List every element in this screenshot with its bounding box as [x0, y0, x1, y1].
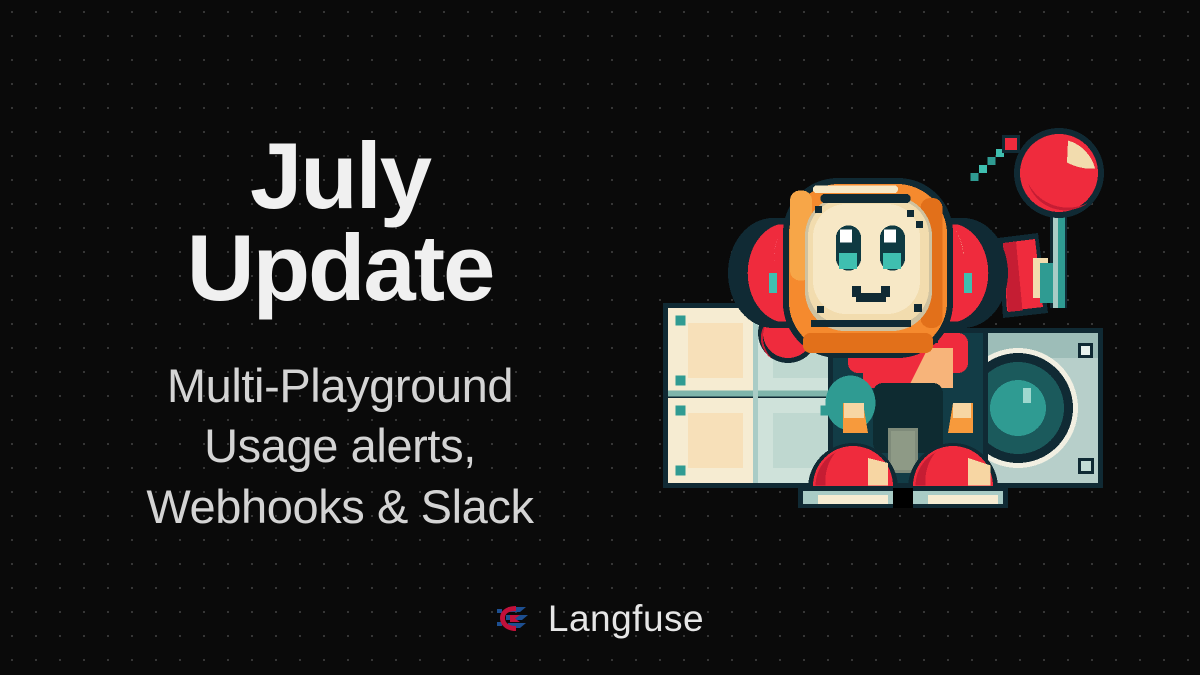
antenna	[971, 135, 1021, 181]
page-title: July Update	[60, 130, 620, 314]
subtitle-line-3: Webhooks & Slack	[60, 477, 620, 537]
brand-lockup: Langfuse	[0, 600, 1200, 637]
text-column: July Update Multi-Playground Usage alert…	[60, 130, 620, 537]
robot-illustration	[648, 108, 1148, 528]
subtitle-line-2: Usage alerts,	[60, 416, 620, 476]
robot-head	[783, 178, 953, 358]
promo-banner: July Update Multi-Playground Usage alert…	[0, 0, 1200, 675]
page-subtitle: Multi-Playground Usage alerts, Webhooks …	[60, 356, 620, 536]
langfuse-logo-icon	[496, 604, 530, 634]
title-line-1: July	[60, 130, 620, 222]
subtitle-line-1: Multi-Playground	[60, 356, 620, 416]
brand-wordmark: Langfuse	[548, 600, 704, 637]
title-line-2: Update	[60, 222, 620, 314]
